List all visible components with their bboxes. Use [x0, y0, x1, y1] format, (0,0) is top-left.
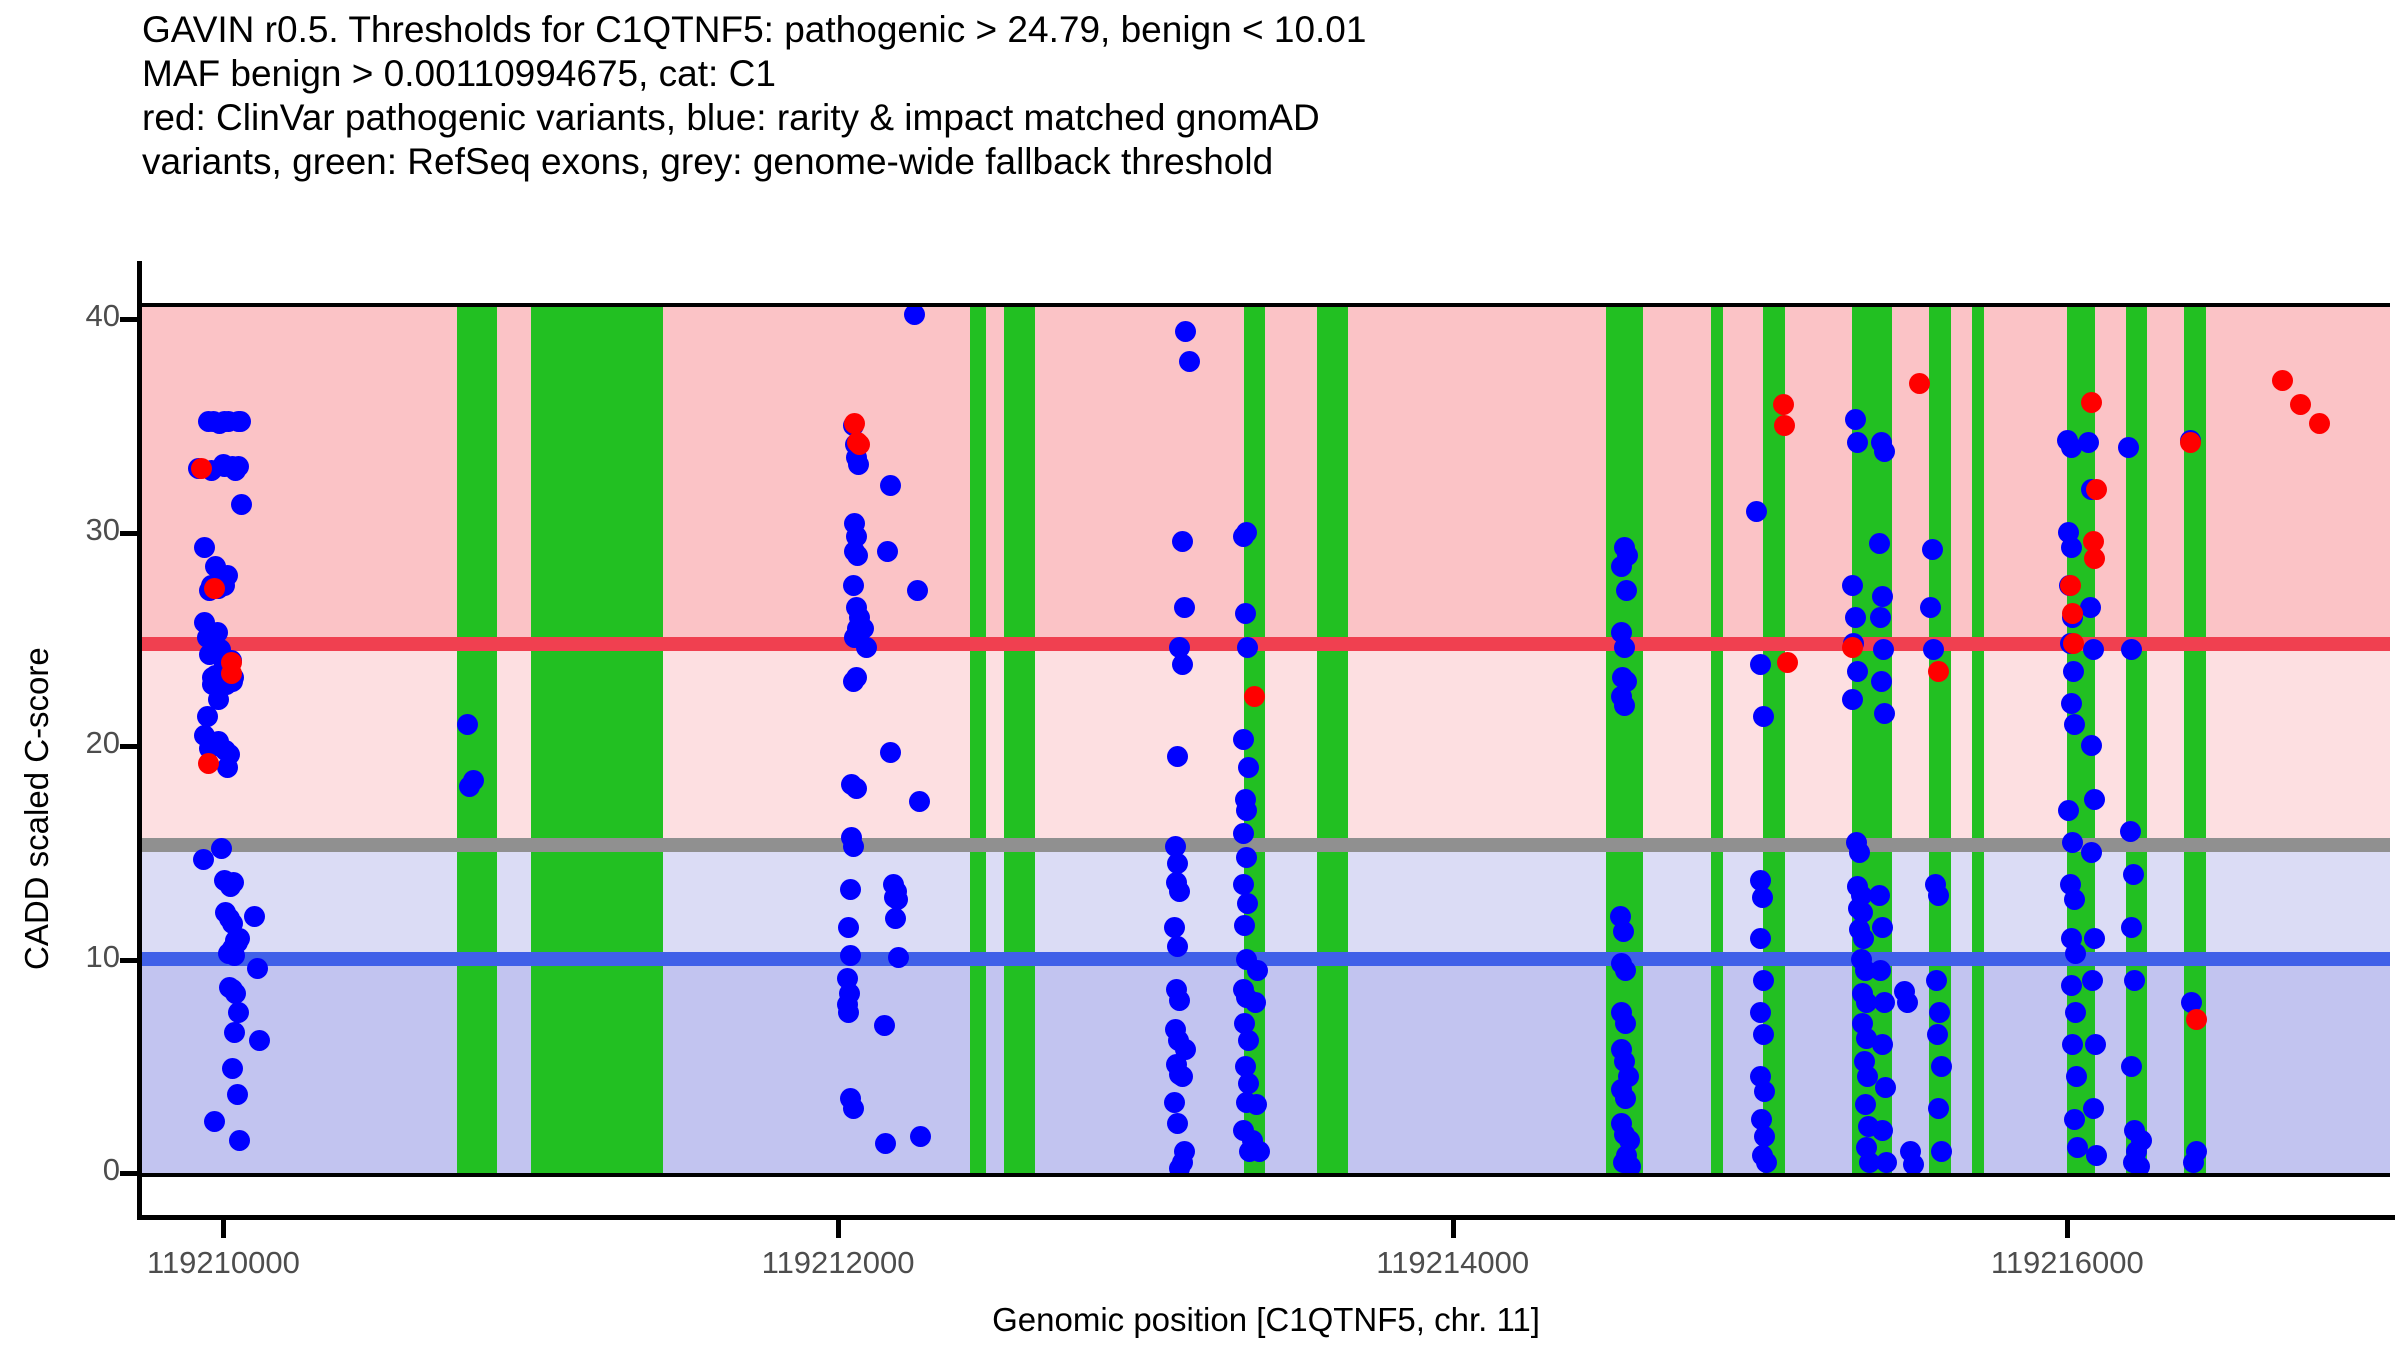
gnomad-variant-point — [1750, 654, 1771, 675]
gnomad-variant-point — [244, 906, 265, 927]
gnomad-variant-point — [2186, 1141, 2207, 1162]
gnomad-variant-point — [874, 1015, 895, 1036]
gnomad-variant-point — [843, 836, 864, 857]
gnomad-variant-point — [2123, 864, 2144, 885]
gnomad-variant-point — [1164, 1092, 1185, 1113]
gnomad-variant-point — [228, 1002, 249, 1023]
gnomad-variant-point — [2064, 1109, 2085, 1130]
gnomad-variant-point — [1235, 603, 1256, 624]
refseq-exon-band — [1972, 306, 1984, 1173]
gnomad-variant-point — [1931, 1056, 1952, 1077]
plot-panel — [142, 306, 2390, 1173]
gnomad-variant-point — [1842, 689, 1863, 710]
gnomad-variant-point — [204, 1111, 225, 1132]
gnomad-variant-point — [847, 545, 868, 566]
gnomad-variant-point — [1875, 1077, 1896, 1098]
gnomad-variant-point — [2084, 789, 2105, 810]
gnomad-variant-point — [1620, 1156, 1641, 1173]
gnomad-variant-point — [2084, 928, 2105, 949]
gnomad-variant-point — [2064, 714, 2085, 735]
gnomad-variant-point — [1874, 441, 1895, 462]
gnomad-variant-point — [1175, 321, 1196, 342]
clinvar-pathogenic-point — [204, 578, 225, 599]
gnomad-variant-point — [1928, 885, 1949, 906]
gnomad-variant-point — [1169, 990, 1190, 1011]
gnomad-variant-point — [247, 958, 268, 979]
clinvar-pathogenic-point — [2084, 548, 2105, 569]
gnomad-variant-point — [2080, 597, 2101, 618]
gnomad-variant-point — [1615, 1088, 1636, 1109]
gnomad-variant-point — [2061, 693, 2082, 714]
x-axis-spine — [137, 1215, 2395, 1220]
gnomad-variant-point — [1853, 928, 1874, 949]
gnomad-variant-point — [1845, 409, 1866, 430]
gnomad-variant-point — [1238, 1073, 1259, 1094]
gnomad-variant-point — [875, 1133, 896, 1154]
x-axis-label: Genomic position [C1QTNF5, chr. 11] — [766, 1301, 1766, 1339]
gnomad-variant-point — [231, 494, 252, 515]
gnomad-variant-point — [909, 791, 930, 812]
x-tick-mark — [221, 1220, 226, 1238]
clinvar-pathogenic-point — [191, 458, 212, 479]
chart-title-block: GAVIN r0.5. Thresholds for C1QTNF5: path… — [142, 8, 2342, 184]
gnomad-variant-point — [2121, 917, 2142, 938]
gnomad-variant-point — [1876, 1152, 1897, 1173]
gnomad-variant-point — [227, 1084, 248, 1105]
gnomad-variant-point — [1750, 928, 1771, 949]
x-tick-mark — [836, 1220, 841, 1238]
y-tick-mark — [120, 744, 138, 749]
panel-top-border — [142, 303, 2390, 307]
gnomad-variant-point — [1615, 1013, 1636, 1034]
gnomad-variant-point — [1167, 853, 1188, 874]
gnomad-variant-point — [1869, 533, 1890, 554]
y-tick-mark — [120, 531, 138, 536]
x-tick-mark — [1451, 1220, 1456, 1238]
gnomad-variant-point — [2120, 821, 2141, 842]
y-tick-label: 10 — [20, 939, 120, 975]
gnomad-variant-point — [222, 1058, 243, 1079]
refseq-exon-band — [970, 306, 985, 1173]
gnomad-variant-point — [2129, 1156, 2150, 1173]
refseq-exon-band — [457, 306, 497, 1173]
gnomad-variant-point — [1920, 597, 1941, 618]
chart-root: GAVIN r0.5. Thresholds for C1QTNF5: path… — [0, 0, 2400, 1350]
gnomad-variant-point — [1175, 1039, 1196, 1060]
y-tick-label: 0 — [20, 1152, 120, 1188]
clinvar-pathogenic-point — [198, 753, 219, 774]
gnomad-variant-point — [1842, 575, 1863, 596]
gnomad-variant-point — [1903, 1154, 1924, 1173]
gnomad-variant-point — [1922, 539, 1943, 560]
x-tick-label: 119210000 — [73, 1245, 373, 1281]
x-tick-mark — [2065, 1220, 2070, 1238]
gnomad-variant-point — [1613, 921, 1634, 942]
refseq-exon-band — [1004, 306, 1035, 1173]
gnomad-variant-point — [853, 618, 874, 639]
refseq-exon-band — [1317, 306, 1348, 1173]
gnomad-variant-point — [1614, 637, 1635, 658]
x-tick-label: 119212000 — [688, 1245, 988, 1281]
gnomad-variant-point — [2064, 889, 2085, 910]
gnomad-variant-point — [2058, 800, 2079, 821]
gnomad-variant-point — [2063, 661, 2084, 682]
gnomad-variant-point — [877, 541, 898, 562]
clinvar-pathogenic-point — [2063, 633, 2084, 654]
gnomad-variant-point — [910, 1126, 931, 1147]
gnomad-variant-point — [230, 411, 251, 432]
gnomad-variant-point — [848, 454, 869, 475]
gnomad-variant-point — [1847, 661, 1868, 682]
clinvar-pathogenic-point — [1928, 661, 1949, 682]
title-line-4: variants, green: RefSeq exons, grey: gen… — [142, 140, 2342, 184]
gnomad-variant-point — [1756, 1152, 1777, 1173]
clinvar-pathogenic-point — [2180, 432, 2201, 453]
gnomad-variant-point — [1236, 847, 1257, 868]
gnomad-variant-point — [1750, 1002, 1771, 1023]
gnomad-variant-point — [2118, 437, 2139, 458]
panel-zero-border — [142, 1173, 2390, 1177]
clinvar-pathogenic-point — [844, 413, 865, 434]
gnomad-variant-point — [2131, 1130, 2152, 1151]
gnomad-variant-point — [2067, 1137, 2088, 1158]
title-line-1: GAVIN r0.5. Thresholds for C1QTNF5: path… — [142, 8, 2342, 52]
gnomad-variant-point — [219, 744, 240, 765]
y-axis-label: CADD scaled C-score — [18, 647, 56, 970]
clinvar-pathogenic-point — [2186, 1009, 2207, 1030]
title-line-2: MAF benign > 0.00110994675, cat: C1 — [142, 52, 2342, 96]
gnomad-variant-point — [1164, 917, 1185, 938]
gnomad-variant-point — [2121, 1056, 2142, 1077]
gnomad-variant-point — [1236, 800, 1257, 821]
gnomad-variant-point — [1746, 501, 1767, 522]
gnomad-variant-point — [1234, 915, 1255, 936]
gnomad-variant-point — [2062, 832, 2083, 853]
gnomad-variant-point — [1249, 1141, 1270, 1162]
refseq-exon-band — [531, 306, 663, 1173]
clinvar-pathogenic-point — [1909, 373, 1930, 394]
gnomad-variant-point — [1753, 706, 1774, 727]
gnomad-variant-point — [229, 928, 250, 949]
gnomad-variant-point — [1927, 1024, 1948, 1045]
gnomad-variant-point — [840, 945, 861, 966]
gnomad-variant-point — [2061, 975, 2082, 996]
gnomad-variant-point — [1247, 960, 1268, 981]
x-tick-label: 119216000 — [1917, 1245, 2217, 1281]
gnomad-variant-point — [1616, 580, 1637, 601]
gnomad-variant-point — [228, 456, 249, 477]
gnomad-variant-point — [1897, 992, 1918, 1013]
title-line-3: red: ClinVar pathogenic variants, blue: … — [142, 96, 2342, 140]
gnomad-variant-point — [224, 1022, 245, 1043]
genome-wide-fallback-line — [142, 838, 2390, 852]
gnomad-variant-point — [463, 770, 484, 791]
gnomad-variant-point — [1869, 885, 1890, 906]
y-tick-label: 30 — [20, 512, 120, 548]
gnomad-variant-point — [1238, 757, 1259, 778]
gnomad-variant-point — [1855, 1094, 1876, 1115]
x-tick-label: 119214000 — [1303, 1245, 1603, 1281]
gnomad-variant-point — [1172, 531, 1193, 552]
gnomad-variant-point — [2065, 943, 2086, 964]
y-tick-mark — [120, 958, 138, 963]
gnomad-variant-point — [1752, 887, 1773, 908]
gnomad-variant-point — [1233, 823, 1254, 844]
gnomad-variant-point — [1172, 654, 1193, 675]
y-tick-mark — [120, 1171, 138, 1176]
gnomad-variant-point — [1870, 960, 1891, 981]
pathogenic-threshold-line — [142, 637, 2390, 651]
clinvar-pathogenic-point — [1773, 394, 1794, 415]
gnomad-variant-point — [907, 580, 928, 601]
clinvar-pathogenic-point — [221, 663, 242, 684]
gnomad-variant-point — [1615, 960, 1636, 981]
gnomad-variant-point — [1238, 1030, 1259, 1051]
gnomad-variant-point — [880, 742, 901, 763]
y-tick-label: 40 — [20, 298, 120, 334]
gnomad-variant-point — [1874, 992, 1895, 1013]
y-tick-label: 20 — [20, 725, 120, 761]
gnomad-variant-point — [840, 879, 861, 900]
refseq-exon-band — [1711, 306, 1723, 1173]
gnomad-variant-point — [1753, 970, 1774, 991]
gnomad-variant-point — [1753, 1024, 1774, 1045]
gnomad-variant-point — [1174, 597, 1195, 618]
clinvar-pathogenic-point — [2081, 392, 2102, 413]
gnomad-variant-point — [1169, 881, 1190, 902]
gnomad-variant-point — [1245, 992, 1266, 1013]
clinvar-pathogenic-point — [2309, 413, 2330, 434]
y-tick-mark — [120, 317, 138, 322]
